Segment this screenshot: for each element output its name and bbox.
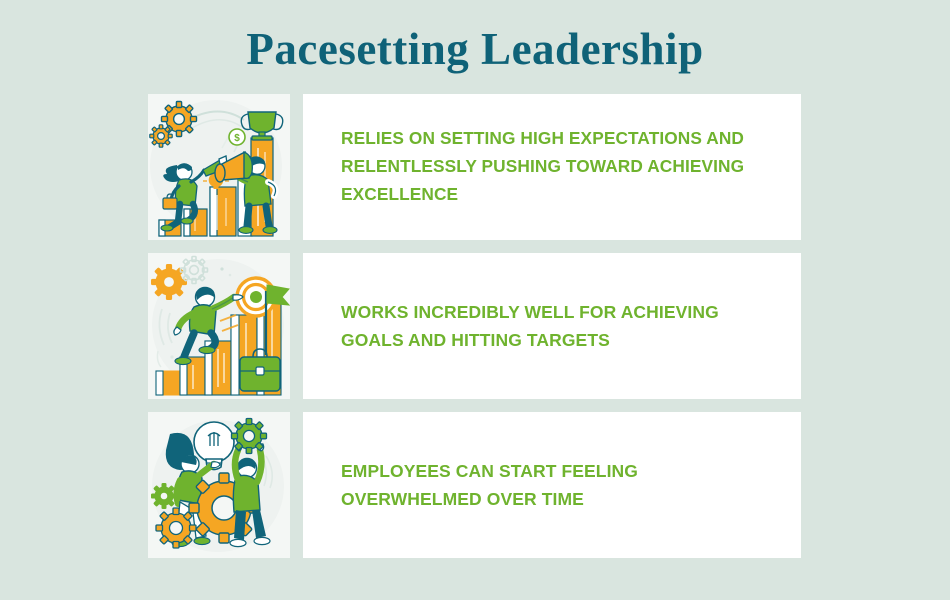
list-item: Works incredibly well for achieving goal… xyxy=(148,253,950,399)
list-item: Employees can start feeling overwhelmed … xyxy=(148,412,950,558)
gear-icon xyxy=(150,125,172,147)
list-item-text: Works incredibly well for achieving goal… xyxy=(303,298,801,354)
list-item: $ xyxy=(148,94,950,240)
page-title: Pacesetting Leadership xyxy=(0,0,950,72)
text-card: Employees can start feeling overwhelmed … xyxy=(303,412,801,558)
list-item-text: Employees can start feeling overwhelmed … xyxy=(303,457,801,513)
goal-target-climbing-illustration xyxy=(148,253,290,399)
list-item-text: Relies on setting high expectations and … xyxy=(303,125,801,208)
content-rows: $ xyxy=(0,94,950,558)
text-card: Relies on setting high expectations and … xyxy=(303,94,801,240)
team-growth-trophy-megaphone-illustration: $ xyxy=(148,94,290,240)
teamwork-gears-idea-illustration xyxy=(148,412,290,558)
gear-icon xyxy=(152,484,177,509)
gear-icon xyxy=(232,419,267,454)
text-card: Works incredibly well for achieving goal… xyxy=(303,253,801,399)
gear-icon xyxy=(156,508,196,548)
dollar-coin-icon: $ xyxy=(229,129,245,145)
svg-text:$: $ xyxy=(234,133,240,144)
